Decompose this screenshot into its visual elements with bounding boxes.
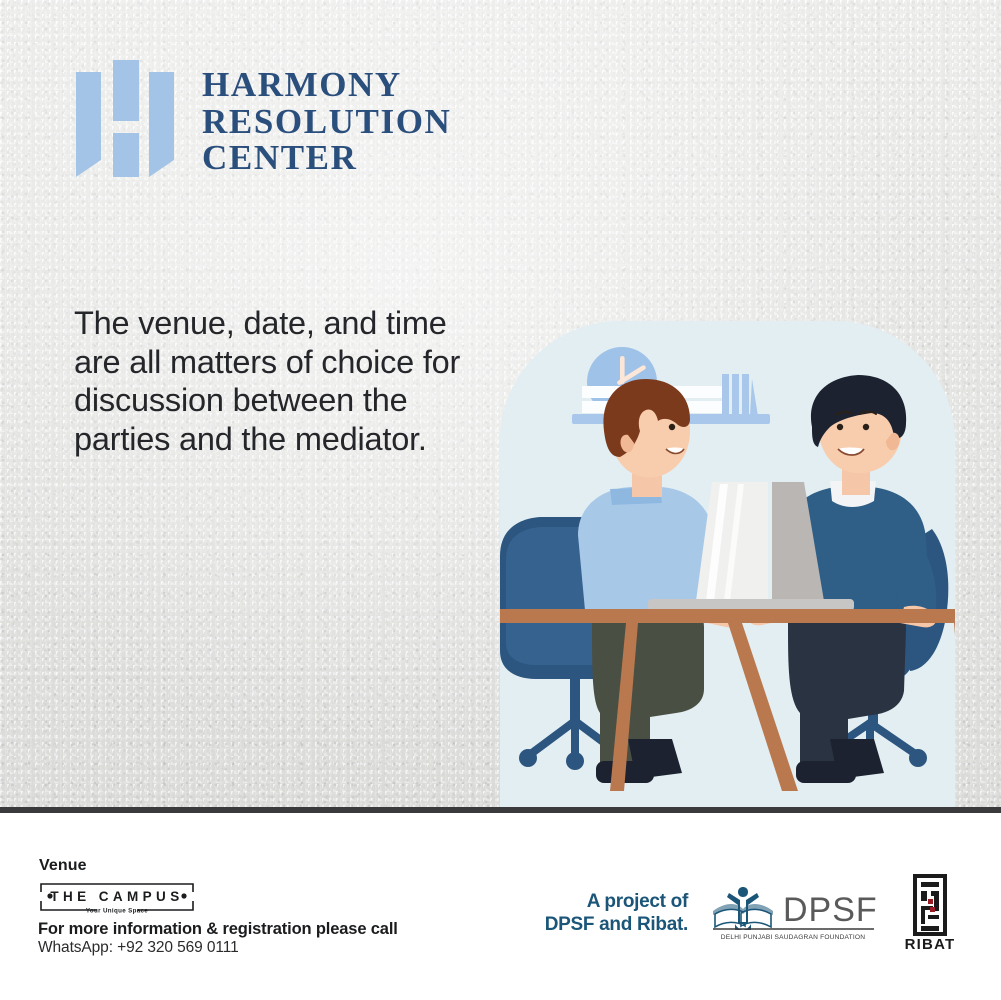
ribat-logo-svg: RIBAT bbox=[899, 874, 961, 952]
venue-label: Venue bbox=[39, 857, 87, 875]
illustration-svg bbox=[500, 321, 1001, 812]
dpsf-acronym: DPSF bbox=[783, 891, 876, 929]
headline-line-4: parties and the mediator. bbox=[74, 420, 494, 459]
brand-line-2: RESOLUTION bbox=[202, 104, 451, 141]
project-credit-line-1: A project of bbox=[533, 890, 688, 913]
harmony-h-monogram-icon bbox=[73, 58, 177, 177]
headline-line-3: discussion between the bbox=[74, 381, 494, 420]
geometric-kufic-maze-icon bbox=[915, 876, 945, 934]
ribat-acronym: RIBAT bbox=[905, 936, 956, 952]
dpsf-full-name: DELHI PUNJABI SAUDAGRAN FOUNDATION bbox=[721, 934, 865, 941]
mediation-session-illustration bbox=[500, 321, 955, 812]
brand-line-1: HARMONY bbox=[202, 67, 451, 104]
headline-line-1: The venue, date, and time bbox=[74, 304, 494, 343]
poster-canvas: HARMONY RESOLUTION CENTER The venue, dat… bbox=[0, 0, 1001, 1000]
the-campus-logo-svg: THE CAMPUS Your Unique Space bbox=[39, 881, 195, 915]
project-credit-line-2: DPSF and Ribat. bbox=[533, 913, 688, 936]
brand-wordmark: HARMONY RESOLUTION CENTER bbox=[202, 67, 451, 177]
headline-line-2: are all matters of choice for bbox=[74, 343, 494, 382]
brand-line-3: CENTER bbox=[202, 140, 451, 177]
contact-whatsapp-line[interactable]: WhatsApp: +92 320 569 0111 bbox=[38, 939, 239, 957]
open-book-with-person-icon bbox=[713, 887, 773, 930]
dpsf-logo: DPSF DELHI PUNJABI SAUDAGRAN FOUNDATION bbox=[711, 884, 876, 946]
ribat-logo: RIBAT bbox=[899, 874, 961, 952]
headline-text: The venue, date, and time are all matter… bbox=[74, 304, 494, 458]
project-credit: A project of DPSF and Ribat. bbox=[533, 890, 688, 936]
campus-title: THE CAMPUS bbox=[50, 889, 183, 904]
dpsf-logo-svg: DPSF DELHI PUNJABI SAUDAGRAN FOUNDATION bbox=[711, 884, 876, 946]
the-campus-logo: THE CAMPUS Your Unique Space bbox=[39, 881, 195, 915]
contact-call-line: For more information & registration plea… bbox=[38, 920, 398, 939]
brand-logo: HARMONY RESOLUTION CENTER bbox=[73, 58, 451, 177]
campus-tagline: Your Unique Space bbox=[86, 907, 148, 914]
